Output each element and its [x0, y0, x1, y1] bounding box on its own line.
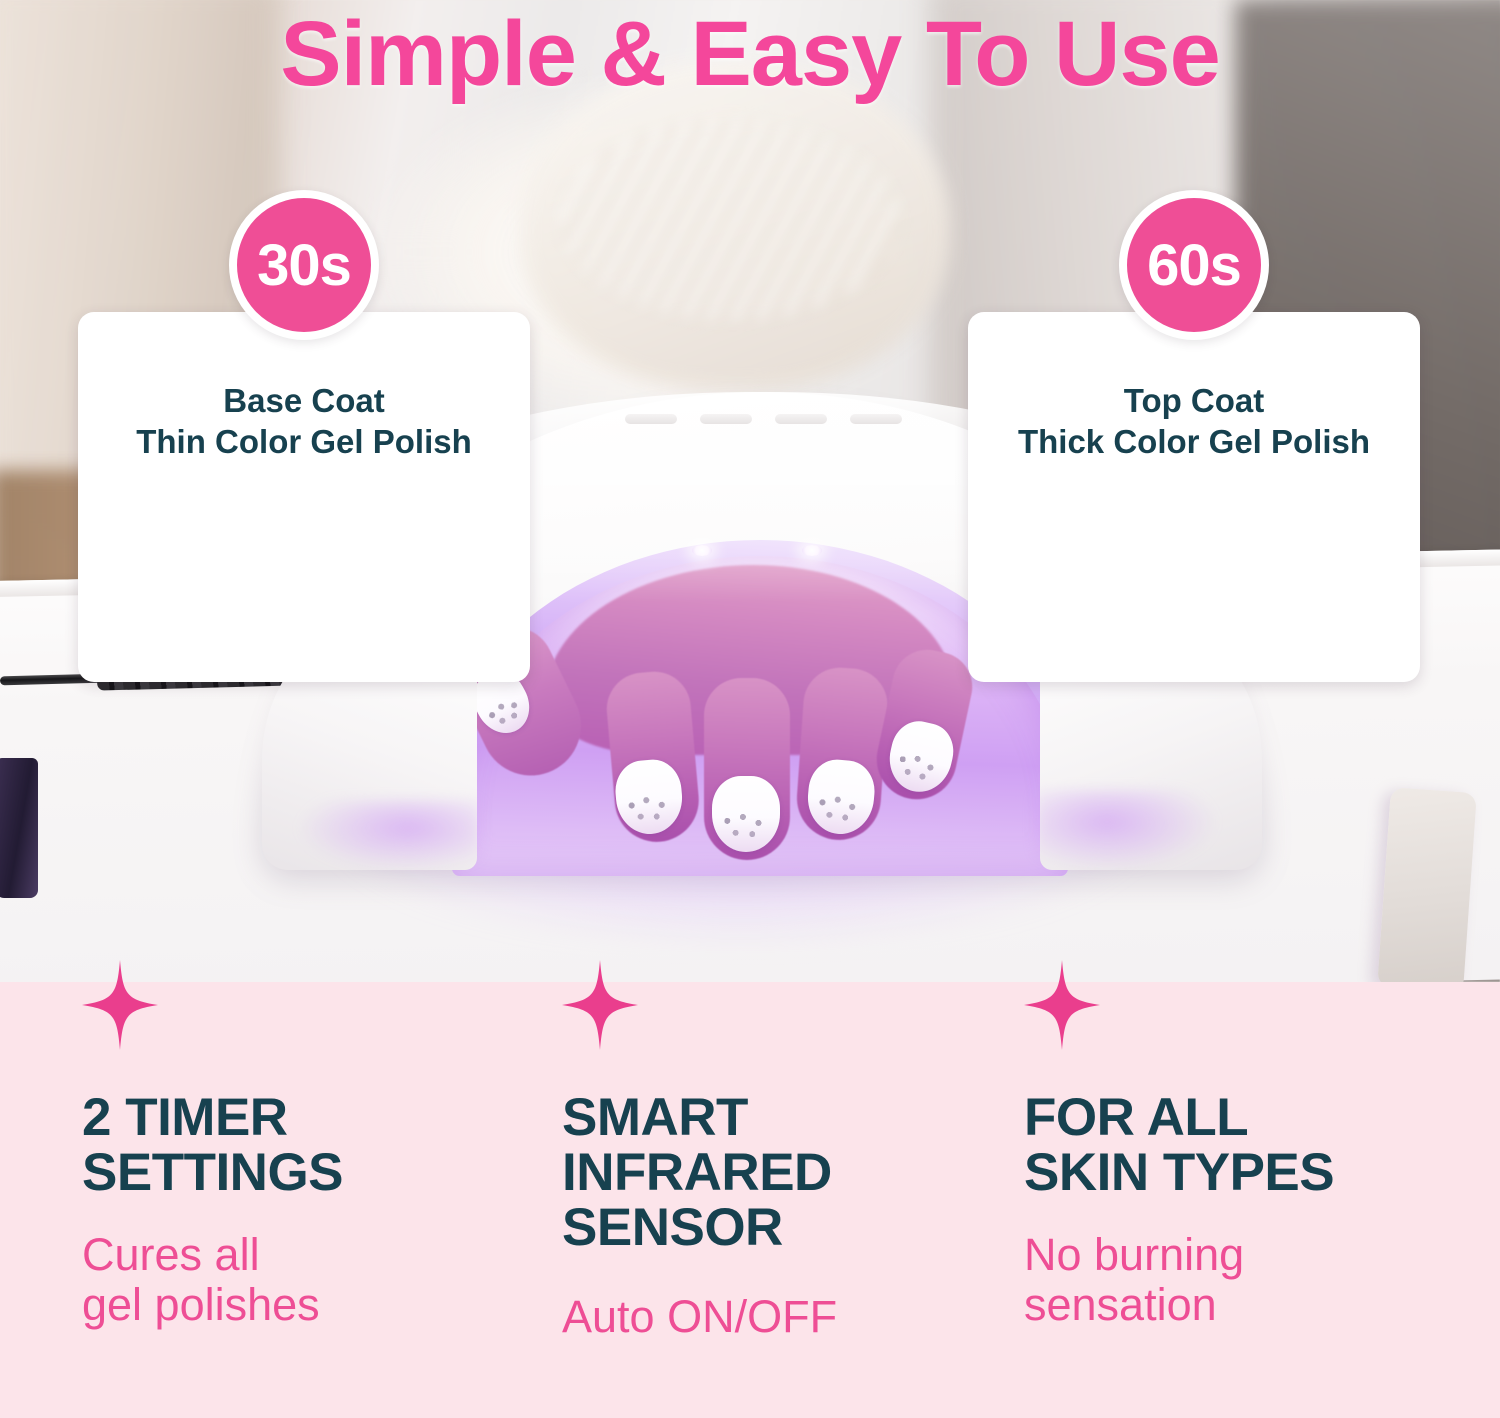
timer-badge-60s: 60s	[1119, 190, 1269, 340]
callout-line-2: Thick Color Gel Polish	[984, 421, 1404, 462]
feature-subtitle: No burning sensation	[1024, 1230, 1244, 1331]
lamp-button-2[interactable]	[700, 414, 752, 424]
lamp-button-3[interactable]	[775, 414, 827, 424]
feature-title: 2 TIMER SETTINGS	[82, 1090, 343, 1200]
feature-title: SMART INFRARED SENSOR	[562, 1090, 832, 1255]
callout-card: Top Coat Thick Color Gel Polish	[968, 312, 1420, 682]
nail-art-dots	[624, 792, 677, 829]
nail-art-dots	[892, 749, 945, 790]
callout-line-2: Thin Color Gel Polish	[94, 421, 514, 462]
product-infographic: Simple & Easy To Use Base Coat Thin Colo…	[0, 0, 1500, 1418]
sparkle-icon	[82, 960, 158, 1050]
background-knit-texture	[560, 120, 900, 320]
feature-subtitle: Cures all gel polishes	[82, 1230, 320, 1331]
callout-card: Base Coat Thin Color Gel Polish	[78, 312, 530, 682]
nail-middle	[712, 776, 780, 852]
timer-badge-30s: 30s	[229, 190, 379, 340]
feature-title: FOR ALL SKIN TYPES	[1024, 1090, 1334, 1200]
nail-file	[1377, 787, 1477, 982]
nail-art-dots	[813, 792, 866, 829]
feature-band: 2 TIMER SETTINGS Cures all gel polishes …	[0, 982, 1500, 1418]
callout-line-1: Top Coat	[984, 380, 1404, 421]
lamp-glow-left	[300, 800, 480, 870]
lamp-led-2	[802, 545, 822, 556]
lamp-led-1	[692, 545, 712, 556]
lamp-button-4[interactable]	[850, 414, 902, 424]
polish-bottle	[0, 758, 38, 898]
lamp-button-1[interactable]	[625, 414, 677, 424]
sparkle-icon	[562, 960, 638, 1050]
sparkle-icon	[1024, 960, 1100, 1050]
nail-art-dots	[720, 811, 772, 844]
callout-line-1: Base Coat	[94, 380, 514, 421]
feature-subtitle: Auto ON/OFF	[562, 1292, 837, 1342]
lamp-glow-right	[1035, 790, 1215, 870]
page-title: Simple & Easy To Use	[0, 2, 1500, 107]
